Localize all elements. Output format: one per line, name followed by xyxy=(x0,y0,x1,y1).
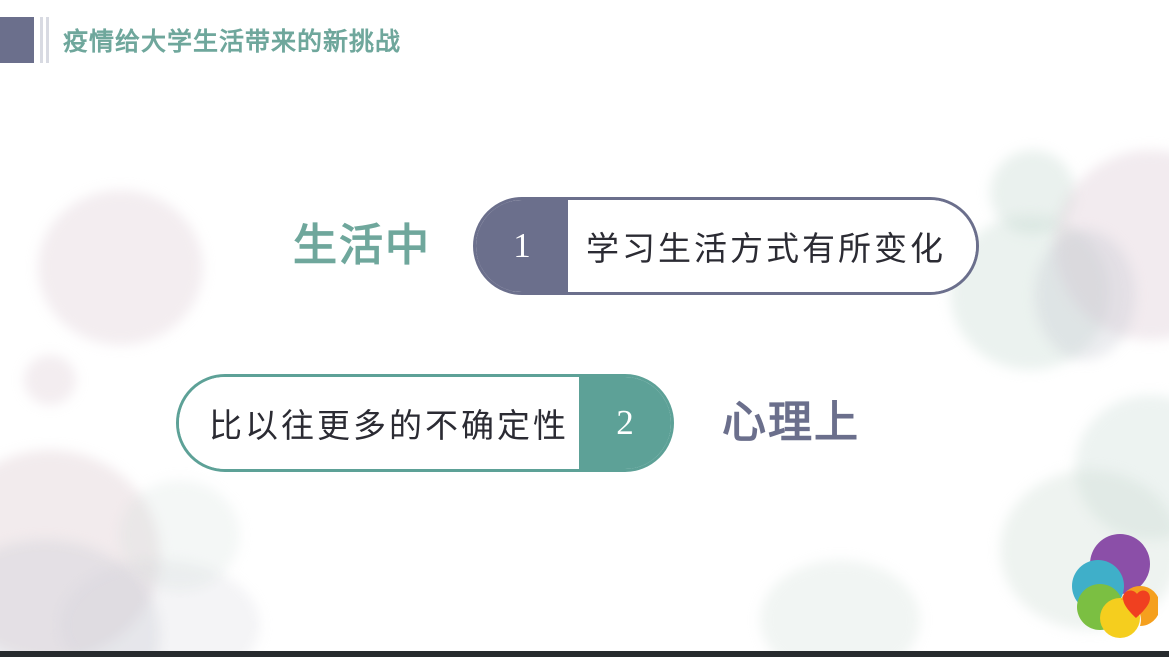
row-1-side-label: 生活中 xyxy=(293,224,431,268)
slide-header: 疫情给大学生活带来的新挑战 xyxy=(0,17,401,63)
row-2-pill-text: 比以往更多的不确定性 xyxy=(179,377,579,469)
header-divider-line-1 xyxy=(40,17,43,63)
row-2-pill[interactable]: 比以往更多的不确定性 2 xyxy=(176,374,674,472)
row-2-side-label: 心理上 xyxy=(722,401,860,445)
bg-blob-gray-right-mid xyxy=(1035,230,1135,360)
logo-svg xyxy=(1058,534,1158,644)
row-1-number-badge: 1 xyxy=(476,200,568,292)
bg-blob-green-bottom-mid xyxy=(760,560,920,657)
bg-blob-pink-right-large xyxy=(1055,150,1169,340)
bg-blob-green-left-edge xyxy=(120,480,240,590)
bg-blob-pink-left-small xyxy=(24,355,76,405)
bg-blob-green-right-low xyxy=(1075,395,1169,540)
rainbow-petals-logo-icon xyxy=(1058,534,1158,644)
background-decoration xyxy=(0,0,1169,657)
page-title: 疫情给大学生活带来的新挑战 xyxy=(63,22,401,58)
slide-canvas: 疫情给大学生活带来的新挑战 生活中 1 学习生活方式有所变化 比以往更多的不确定… xyxy=(0,0,1169,657)
row-1-pill[interactable]: 1 学习生活方式有所变化 xyxy=(473,197,979,295)
row-1-pill-text: 学习生活方式有所变化 xyxy=(568,200,976,292)
bg-blob-pink-left-large xyxy=(38,190,203,345)
header-divider-line-2 xyxy=(46,17,49,63)
bg-blob-gray-bottom-left xyxy=(60,560,260,657)
bg-blob-pink-left-bottom xyxy=(0,450,160,657)
content-row-2: 比以往更多的不确定性 2 心理上 xyxy=(176,374,860,472)
bg-blob-green-right-top xyxy=(990,150,1075,235)
header-accent-block xyxy=(0,17,34,63)
bottom-bar xyxy=(0,651,1169,657)
bg-blob-gray-left-bottom xyxy=(0,540,160,657)
row-2-number-badge: 2 xyxy=(579,377,671,469)
content-row-1: 生活中 1 学习生活方式有所变化 xyxy=(293,197,979,295)
